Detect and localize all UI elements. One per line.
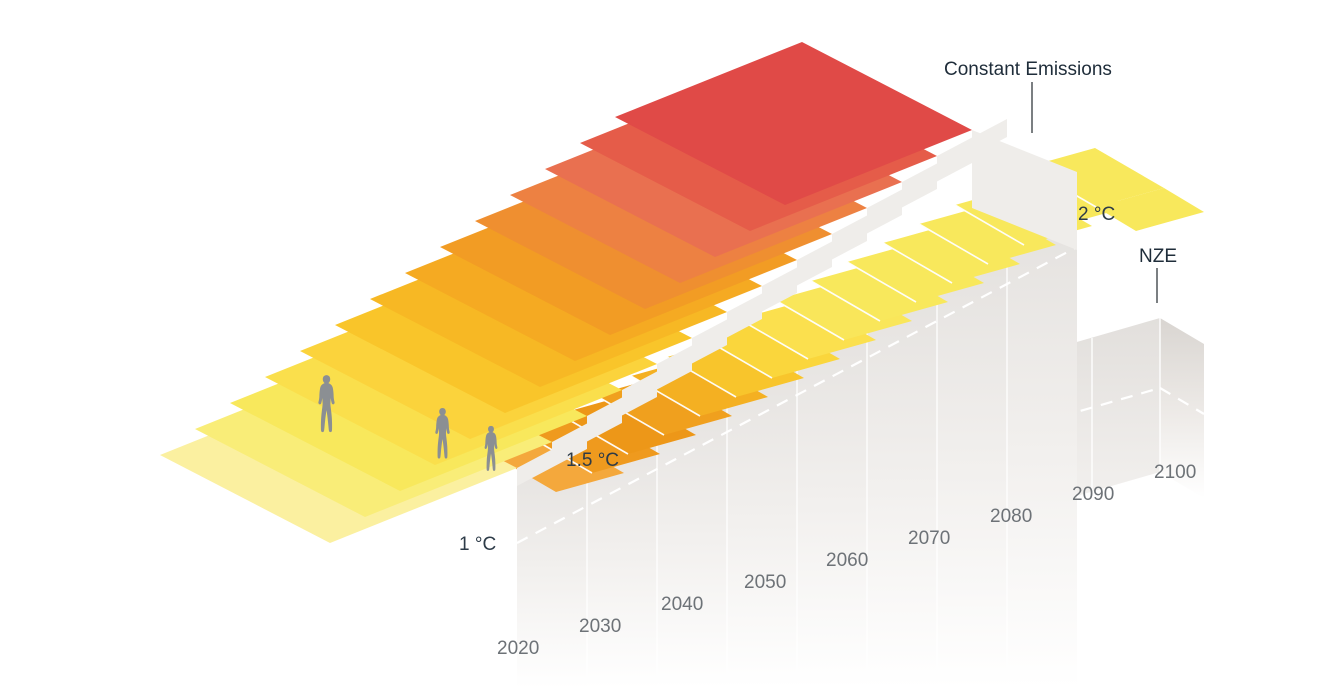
composition: Constant Emissions NZE 2 °C 1.5 °C 1 °C … (0, 0, 1338, 688)
temp-label-2c: 2 °C (1078, 204, 1115, 225)
year-label-2030: 2030 (579, 616, 621, 637)
year-label-2100: 2100 (1154, 462, 1196, 483)
year-label-2040: 2040 (661, 594, 703, 615)
temp-label-15c: 1.5 °C (566, 450, 619, 471)
chart-stage: Constant Emissions NZE 2 °C 1.5 °C 1 °C … (0, 0, 1338, 688)
final-render: Constant Emissions NZE 2 °C 1.5 °C 1 °C … (0, 0, 1338, 688)
year-label-2020: 2020 (497, 638, 539, 659)
year-label-2050: 2050 (744, 572, 786, 593)
callout-constant-emissions: Constant Emissions (944, 59, 1112, 80)
year-label-2090: 2090 (1072, 484, 1114, 505)
isometric-climate-chart: Constant Emissions NZE 2 °C 1.5 °C 1 °C … (0, 0, 1338, 688)
year-label-2080: 2080 (990, 506, 1032, 527)
year-label-2060: 2060 (826, 550, 868, 571)
callout-nze: NZE (1139, 246, 1177, 267)
temp-label-1c: 1 °C (459, 534, 496, 555)
year-label-2070: 2070 (908, 528, 950, 549)
